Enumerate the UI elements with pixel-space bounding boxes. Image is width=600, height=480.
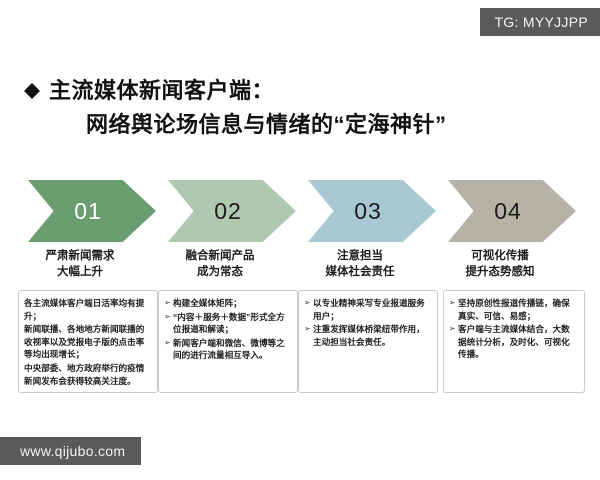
chevron-bullet-icon: ➢ <box>304 323 313 336</box>
step-chevron-01: 01 <box>28 180 156 242</box>
step-caption-03-line1: 注意担当 <box>290 248 430 264</box>
list-item: ➢“内容＋服务＋数据”形式全方位报道和解读； <box>164 311 291 336</box>
step-detail-box-02: ➢构建全媒体矩阵； ➢“内容＋服务＋数据”形式全方位报道和解读； ➢新闻客户端和… <box>158 290 298 393</box>
step-caption-02-line2: 成为常态 <box>150 264 290 280</box>
step-chevron-03: 03 <box>308 180 436 242</box>
step-detail-box-01: ➢各主流媒体客户端日活率均有提升； ➢新闻联播、各地地方新闻联播的收视率以及党报… <box>18 290 158 393</box>
step-chevron-row: 01 02 03 04 <box>0 180 600 242</box>
bullet-list-02: ➢构建全媒体矩阵； ➢“内容＋服务＋数据”形式全方位报道和解读； ➢新闻客户端和… <box>164 297 291 362</box>
chevron-bullet-icon: ➢ <box>164 297 173 310</box>
site-watermark: www.qijubo.com <box>0 437 141 465</box>
chevron-bullet-icon: ➢ <box>164 337 173 350</box>
title-text-line-1: 主流媒体新闻客户端： <box>49 76 274 106</box>
step-caption-03-line2: 媒体社会责任 <box>290 264 430 280</box>
step-detail-box-04: ➢坚持原创性报道传播链，确保真实、可信、易感； ➢客户端与主流媒体结合，大数据统… <box>443 290 585 393</box>
page-title: 主流媒体新闻客户端： 网络舆论场信息与情绪的“定海神针” <box>24 76 584 140</box>
telegram-watermark: TG: MYYJJPP <box>480 8 600 36</box>
step-caption-04: 可视化传播 提升态势感知 <box>430 248 570 280</box>
list-item: ➢新闻客户端和微信、微博等之间的进行流量相互导入。 <box>164 337 291 362</box>
step-caption-01: 严肃新闻需求 大幅上升 <box>10 248 150 280</box>
step-caption-04-line2: 提升态势感知 <box>430 264 570 280</box>
diamond-icon <box>24 75 40 91</box>
title-text-line-2: 网络舆论场信息与情绪的“定海神针” <box>86 110 584 140</box>
step-caption-01-line1: 严肃新闻需求 <box>10 248 150 264</box>
step-number-03: 03 <box>354 198 382 225</box>
chevron-bullet-icon: ➢ <box>449 297 458 310</box>
list-item: ➢构建全媒体矩阵； <box>164 297 291 310</box>
list-item: ➢客户端与主流媒体结合，大数据统计分析，及时化、可视化传播。 <box>449 323 578 361</box>
step-number-01: 01 <box>74 198 102 225</box>
chevron-bullet-icon: ➢ <box>449 323 458 336</box>
chevron-bullet-icon: ➢ <box>304 297 313 310</box>
step-chevron-02: 02 <box>168 180 296 242</box>
list-item: ➢新闻联播、各地地方新闻联播的收视率以及党报电子版的点击率等均出现增长； <box>24 323 151 361</box>
bullet-list-03: ➢以专业精神采写专业报道服务用户； ➢注重发挥媒体桥梁纽带作用，主动担当社会责任… <box>304 297 431 348</box>
list-item: ➢注重发挥媒体桥梁纽带作用，主动担当社会责任。 <box>304 323 431 348</box>
bullet-list-04: ➢坚持原创性报道传播链，确保真实、可信、易感； ➢客户端与主流媒体结合，大数据统… <box>449 297 578 361</box>
step-caption-03: 注意担当 媒体社会责任 <box>290 248 430 280</box>
title-line-1: 主流媒体新闻客户端： <box>24 76 584 106</box>
step-detail-box-03: ➢以专业精神采写专业报道服务用户； ➢注重发挥媒体桥梁纽带作用，主动担当社会责任… <box>298 290 438 393</box>
step-caption-02: 融合新闻产品 成为常态 <box>150 248 290 280</box>
bullet-list-01: ➢各主流媒体客户端日活率均有提升； ➢新闻联播、各地地方新闻联播的收视率以及党报… <box>24 297 151 387</box>
list-item: ➢中央部委、地方政府举行的疫情新闻发布会获得较高关注度。 <box>24 362 151 387</box>
list-item: ➢坚持原创性报道传播链，确保真实、可信、易感； <box>449 297 578 322</box>
step-number-02: 02 <box>214 198 242 225</box>
chevron-bullet-icon: ➢ <box>164 311 173 324</box>
list-item: ➢以专业精神采写专业报道服务用户； <box>304 297 431 322</box>
step-chevron-04: 04 <box>448 180 576 242</box>
step-caption-02-line1: 融合新闻产品 <box>150 248 290 264</box>
step-number-04: 04 <box>494 198 522 225</box>
list-item: ➢各主流媒体客户端日活率均有提升； <box>24 297 151 322</box>
step-caption-04-line1: 可视化传播 <box>430 248 570 264</box>
step-caption-01-line2: 大幅上升 <box>10 264 150 280</box>
